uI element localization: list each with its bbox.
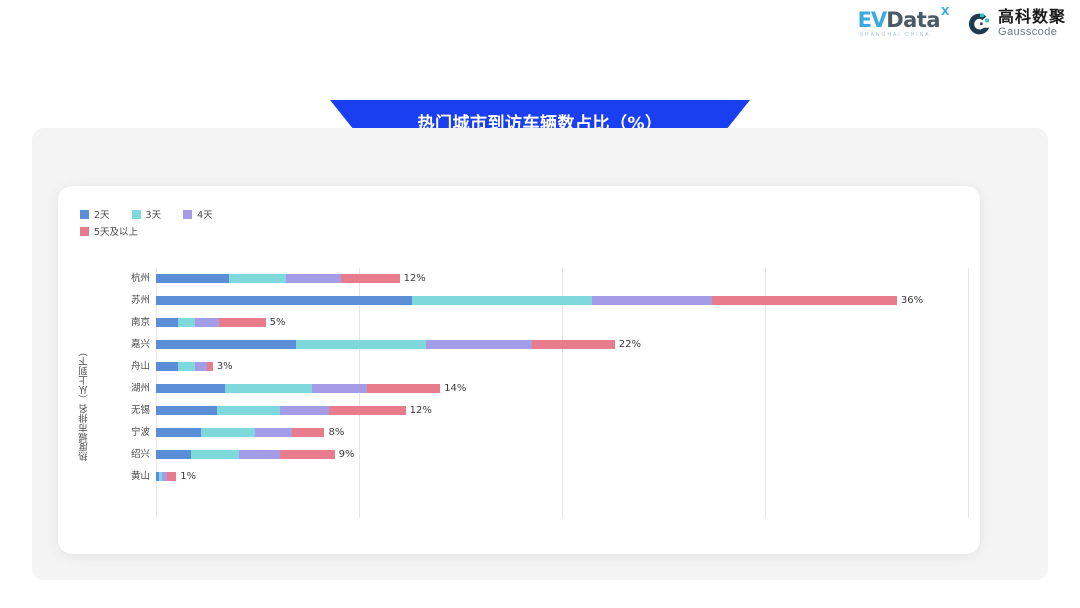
bar-segment-2天[interactable]	[156, 384, 225, 393]
y-axis-tick-label: 舟山	[102, 356, 150, 378]
bar-segment-5天及以上[interactable]	[292, 428, 324, 437]
y-axis-tick-label: 南京	[102, 312, 150, 334]
evdata-logo-prefix: EV	[858, 10, 887, 31]
bar-value-label: 5%	[270, 318, 286, 327]
bar-segment-5天及以上[interactable]	[532, 340, 615, 349]
bar-segment-4天[interactable]	[195, 318, 219, 327]
y-axis-tick-label: 黄山	[102, 466, 150, 488]
stacked-bar: 3%	[156, 362, 968, 371]
y-axis-tick-label: 苏州	[102, 290, 150, 312]
bar-segment-2天[interactable]	[156, 450, 191, 459]
stacked-bar: 5%	[156, 318, 968, 327]
bar-segment-4天[interactable]	[592, 296, 712, 305]
y-axis-tick-label: 杭州	[102, 268, 150, 290]
stacked-bar: 36%	[156, 296, 968, 305]
chart-row[interactable]: 湖州14%	[102, 378, 968, 400]
gausscode-logo-cn-name: 高科数聚	[998, 10, 1066, 27]
stacked-bar: 9%	[156, 450, 968, 459]
stacked-bar: 12%	[156, 274, 968, 283]
gausscode-logo-en-name: Gausscode	[998, 27, 1066, 39]
bar-segment-2天[interactable]	[156, 296, 412, 305]
chart-row[interactable]: 黄山1%	[102, 466, 968, 488]
bar-value-label: 3%	[217, 362, 233, 371]
stacked-bar: 12%	[156, 406, 968, 415]
stacked-bar: 8%	[156, 428, 968, 437]
gausscode-logo-icon	[966, 11, 992, 37]
evdata-logo-wordmark: EV Data X	[858, 10, 948, 31]
gausscode-logo: 高科数聚 Gausscode	[966, 10, 1066, 38]
y-axis-tick-label: 绍兴	[102, 444, 150, 466]
bar-segment-3天[interactable]	[191, 450, 240, 459]
bar-segment-2天[interactable]	[156, 274, 229, 283]
bar-value-label: 14%	[444, 384, 466, 393]
evdata-logo-name: Data	[886, 10, 940, 31]
bar-segment-5天及以上[interactable]	[329, 406, 406, 415]
bar-segment-3天[interactable]	[229, 274, 286, 283]
bar-segment-5天及以上[interactable]	[219, 318, 266, 327]
chart-row[interactable]: 苏州36%	[102, 290, 968, 312]
bar-segment-3天[interactable]	[217, 406, 280, 415]
bar-segment-3天[interactable]	[296, 340, 426, 349]
bar-segment-5天及以上[interactable]	[367, 384, 440, 393]
evdata-logo: EV Data X shanghai china	[858, 10, 948, 38]
chart-row[interactable]: 宁波8%	[102, 422, 968, 444]
evdata-logo-tagline: shanghai china	[858, 33, 931, 38]
bar-segment-4天[interactable]	[239, 450, 280, 459]
bar-segment-5天及以上[interactable]	[341, 274, 400, 283]
bar-segment-3天[interactable]	[225, 384, 312, 393]
y-axis-tick-label: 湖州	[102, 378, 150, 400]
bar-segment-2天[interactable]	[156, 406, 217, 415]
chart-row[interactable]: 无锡12%	[102, 400, 968, 422]
stacked-bar: 1%	[156, 472, 968, 481]
y-axis-tick-label: 嘉兴	[102, 334, 150, 356]
stacked-bar-chart: 热度城市排名（从上到下） 杭州12%苏州36%南京5%嘉兴22%舟山3%湖州14…	[58, 186, 980, 554]
bar-segment-4天[interactable]	[312, 384, 367, 393]
bar-segment-5天及以上[interactable]	[167, 472, 176, 481]
bar-segment-4天[interactable]	[280, 406, 329, 415]
brand-logo-bar: EV Data X shanghai china 高科数聚 Gausscode	[858, 10, 1066, 38]
bar-segment-4天[interactable]	[426, 340, 532, 349]
bar-value-label: 12%	[410, 406, 432, 415]
bar-segment-2天[interactable]	[156, 362, 178, 371]
gausscode-logo-text: 高科数聚 Gausscode	[998, 10, 1066, 38]
chart-row[interactable]: 杭州12%	[102, 268, 968, 290]
chart-plot-area: 杭州12%苏州36%南京5%嘉兴22%舟山3%湖州14%无锡12%宁波8%绍兴9…	[102, 268, 968, 518]
y-axis-tick-label: 无锡	[102, 400, 150, 422]
bar-segment-2天[interactable]	[156, 428, 201, 437]
chart-row[interactable]: 南京5%	[102, 312, 968, 334]
y-axis-title: 热度城市排名（从上到下）	[78, 314, 92, 494]
bar-value-label: 9%	[339, 450, 355, 459]
chart-bar-rows: 杭州12%苏州36%南京5%嘉兴22%舟山3%湖州14%无锡12%宁波8%绍兴9…	[102, 268, 968, 518]
chart-row[interactable]: 嘉兴22%	[102, 334, 968, 356]
stacked-bar: 14%	[156, 384, 968, 393]
bar-segment-5天及以上[interactable]	[712, 296, 897, 305]
bar-segment-3天[interactable]	[178, 362, 194, 371]
bar-segment-5天及以上[interactable]	[280, 450, 335, 459]
bar-segment-2天[interactable]	[156, 340, 296, 349]
chart-row[interactable]: 绍兴9%	[102, 444, 968, 466]
bar-value-label: 12%	[404, 274, 426, 283]
chart-row[interactable]: 舟山3%	[102, 356, 968, 378]
y-axis-tick-label: 宁波	[102, 422, 150, 444]
bar-value-label: 8%	[328, 428, 344, 437]
bar-segment-4天[interactable]	[195, 362, 207, 371]
bar-segment-4天[interactable]	[255, 428, 292, 437]
chart-card: 2天3天4天5天及以上 热度城市排名（从上到下） 杭州12%苏州36%南京5%嘉…	[58, 186, 980, 554]
bar-value-label: 1%	[180, 472, 196, 481]
bar-segment-3天[interactable]	[178, 318, 194, 327]
bar-value-label: 22%	[619, 340, 641, 349]
evdata-logo-superscript: X	[941, 6, 949, 17]
gridline-40	[968, 268, 969, 518]
bar-value-label: 36%	[901, 296, 923, 305]
bar-segment-2天[interactable]	[156, 318, 178, 327]
bar-segment-4天[interactable]	[286, 274, 341, 283]
bar-segment-5天及以上[interactable]	[207, 362, 213, 371]
stacked-bar: 22%	[156, 340, 968, 349]
bar-segment-3天[interactable]	[201, 428, 256, 437]
bar-segment-3天[interactable]	[412, 296, 593, 305]
